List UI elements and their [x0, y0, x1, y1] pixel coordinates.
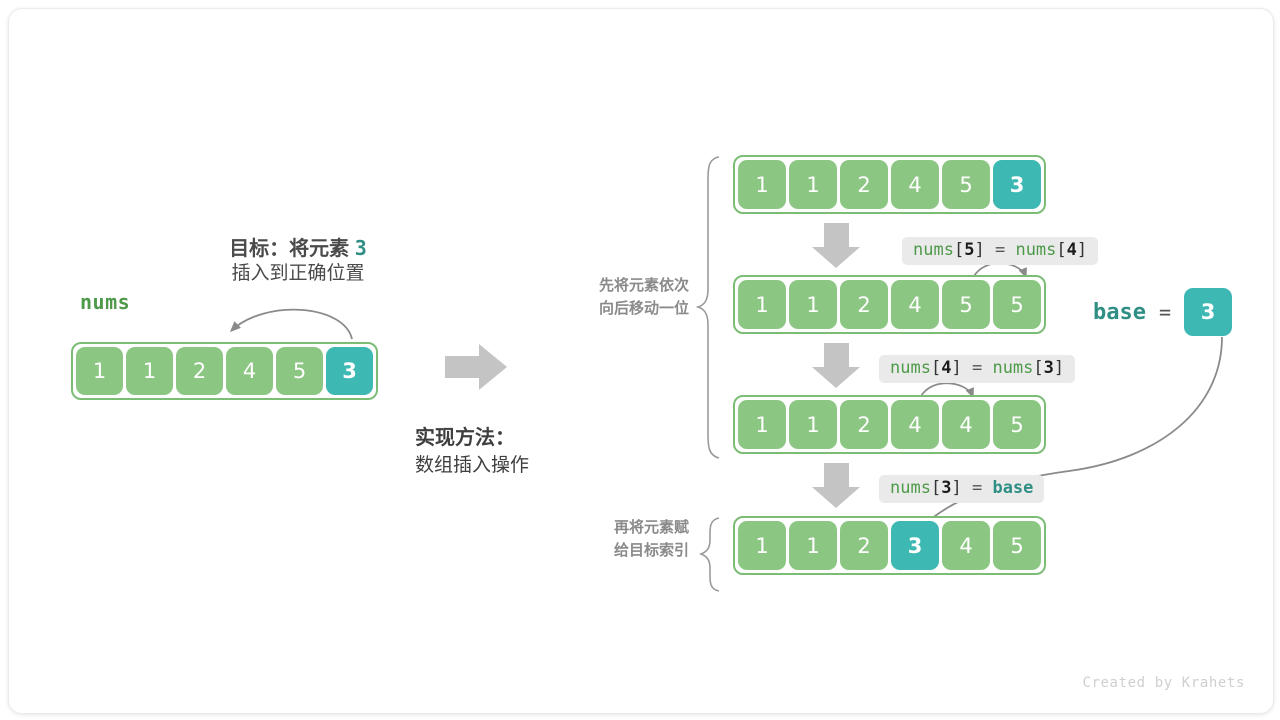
array-cell-highlight: 3 [993, 160, 1041, 209]
right-arrow-icon [445, 344, 507, 390]
array-cell: 5 [942, 160, 990, 209]
array-cell: 1 [789, 160, 837, 209]
code-index: 5 [964, 240, 974, 260]
method-line2: 数组插入操作 [415, 453, 645, 479]
array-step-3: 1 1 2 4 4 5 [733, 395, 1046, 454]
code-operator: = [995, 240, 1005, 260]
array-cell: 1 [789, 400, 837, 449]
array-cell: 5 [942, 280, 990, 329]
array-cell: 4 [891, 400, 939, 449]
code-index: 3 [1044, 358, 1054, 378]
code-bracket: ] [951, 358, 961, 378]
note-assign-element: 再将元素赋 给目标索引 [529, 516, 689, 563]
code-bracket: [ [1056, 240, 1066, 260]
array-cell: 2 [176, 347, 223, 395]
note-bottom-line2: 给目标索引 [529, 539, 689, 562]
base-equals: = [1159, 300, 1171, 324]
down-arrow-icon-3 [812, 463, 860, 508]
array-cell: 2 [840, 160, 888, 209]
array-cell: 1 [738, 280, 786, 329]
down-arrow-icon-2 [812, 343, 860, 388]
array-cell: 4 [891, 280, 939, 329]
goal-text: 目标：将元素 3 插入到正确位置 [193, 235, 403, 287]
array-cell-highlight: 3 [891, 521, 939, 570]
array-cell: 5 [993, 280, 1041, 329]
array-cell: 5 [993, 400, 1041, 449]
array-cell: 2 [840, 521, 888, 570]
note-shift-elements: 先将元素依次 向后移动一位 [529, 274, 689, 321]
diagram-stage: nums 目标：将元素 3 插入到正确位置 1 1 2 4 5 3 实现方法： … [9, 9, 1273, 713]
array-cell: 5 [276, 347, 323, 395]
code-ident: nums [890, 358, 931, 378]
base-variable: base = 3 [1093, 288, 1232, 336]
array-input: 1 1 2 4 5 3 [71, 342, 378, 400]
code-operator: = [972, 358, 982, 378]
goal-value: 3 [355, 236, 367, 260]
code-bracket: ] [951, 478, 961, 498]
code-index: 4 [1067, 240, 1077, 260]
brace-top [698, 157, 719, 458]
array-step-4: 1 1 2 3 4 5 [733, 516, 1046, 575]
base-name: base [1093, 300, 1146, 325]
note-top-line1: 先将元素依次 [529, 274, 689, 297]
array-cell: 1 [738, 521, 786, 570]
array-cell: 4 [942, 521, 990, 570]
array-cell: 1 [126, 347, 173, 395]
code-bracket: ] [1054, 358, 1064, 378]
diagram-card: nums 目标：将元素 3 插入到正确位置 1 1 2 4 5 3 实现方法： … [8, 8, 1274, 714]
code-label-assign-5: nums[5] = nums[4] [902, 237, 1098, 265]
code-bracket: [ [931, 358, 941, 378]
array-cell: 1 [76, 347, 123, 395]
array-step-2: 1 1 2 4 5 5 [733, 275, 1046, 334]
array-cell: 1 [789, 521, 837, 570]
array-cell: 4 [942, 400, 990, 449]
code-ident: nums [890, 478, 931, 498]
base-value-box: 3 [1184, 288, 1232, 336]
code-index: 4 [941, 358, 951, 378]
code-bracket: ] [1077, 240, 1087, 260]
method-text: 实现方法： 数组插入操作 [415, 425, 645, 479]
nums-label: nums [80, 290, 130, 314]
array-cell: 1 [789, 280, 837, 329]
array-cell-highlight: 3 [326, 347, 373, 395]
array-cell: 1 [738, 160, 786, 209]
array-cell: 2 [840, 400, 888, 449]
method-line1: 实现方法： [415, 425, 645, 453]
goal-line1-prefix: 目标：将元素 [229, 238, 349, 260]
array-cell: 4 [226, 347, 273, 395]
goal-line2: 插入到正确位置 [193, 262, 403, 287]
code-bracket: ] [974, 240, 984, 260]
code-ident: nums [992, 358, 1033, 378]
note-top-line2: 向后移动一位 [529, 297, 689, 320]
array-cell: 2 [840, 280, 888, 329]
code-bracket: [ [954, 240, 964, 260]
note-bottom-line1: 再将元素赋 [529, 516, 689, 539]
insert-curve-left [231, 310, 352, 339]
array-step-1: 1 1 2 4 5 3 [733, 155, 1046, 214]
brace-bottom [701, 518, 719, 591]
code-ident: nums [1015, 240, 1056, 260]
code-operator: = [972, 478, 982, 498]
array-cell: 1 [738, 400, 786, 449]
down-arrow-icon-1 [812, 223, 860, 268]
code-index: 3 [941, 478, 951, 498]
credit-text: Created by Krahets [1082, 675, 1245, 691]
code-label-assign-base: nums[3] = base [879, 475, 1044, 503]
code-base-ref: base [992, 478, 1033, 498]
code-ident: nums [913, 240, 954, 260]
array-cell: 5 [993, 521, 1041, 570]
array-cell: 4 [891, 160, 939, 209]
code-label-assign-4: nums[4] = nums[3] [879, 355, 1075, 383]
code-bracket: [ [931, 478, 941, 498]
code-bracket: [ [1033, 358, 1043, 378]
